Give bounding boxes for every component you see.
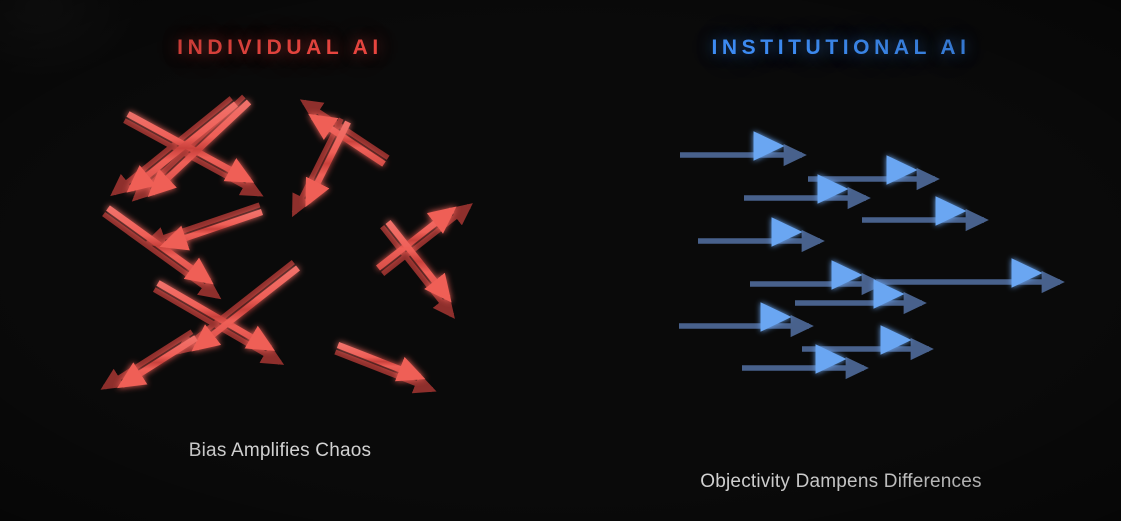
- diagram-canvas: INDIVIDUAL AI: [0, 0, 1121, 521]
- aligned-arrow-cluster: [0, 0, 1121, 521]
- aligned-arrow-ghost-layer: [679, 155, 1060, 368]
